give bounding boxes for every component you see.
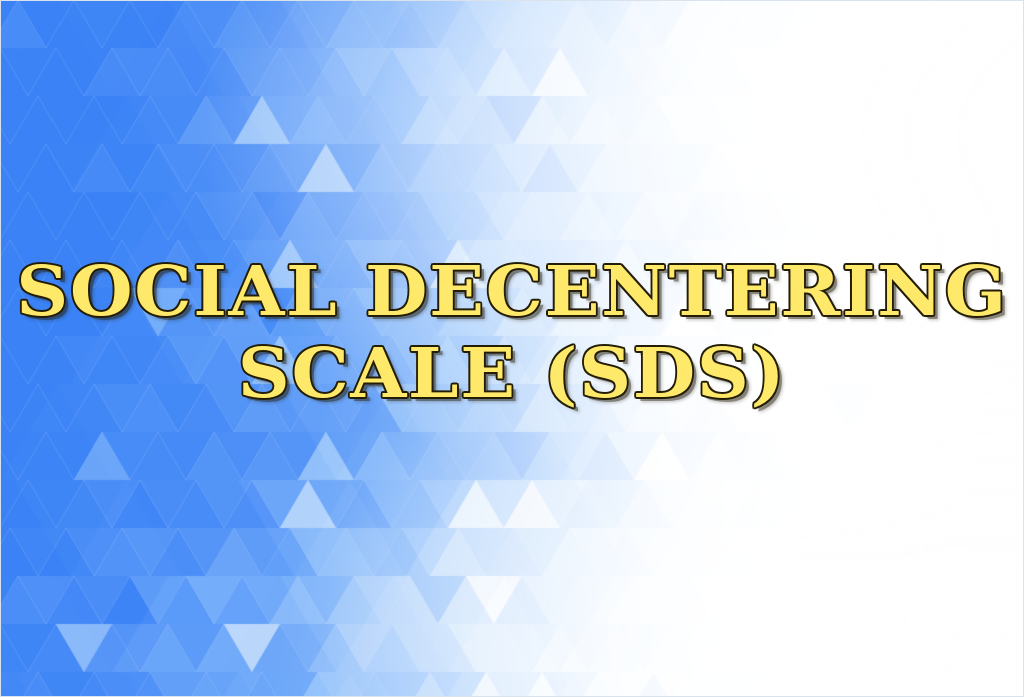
slide-title: SOCIAL DECENTERING SCALE (SDS): [0, 258, 1024, 408]
title-slide: SOCIAL DECENTERING SCALE (SDS): [0, 0, 1024, 697]
title-line-2: SCALE (SDS): [0, 340, 1024, 408]
title-line-1: SOCIAL DECENTERING: [0, 258, 1024, 326]
